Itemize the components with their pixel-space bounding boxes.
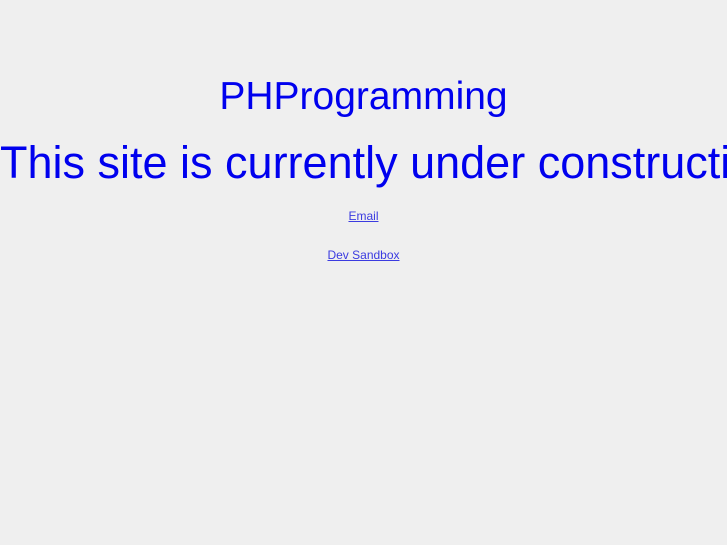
construction-message: This site is currently under constructio… xyxy=(0,140,727,185)
link-list: Email Dev Sandbox xyxy=(0,208,727,263)
list-item: Dev Sandbox xyxy=(0,247,727,263)
page-root: PHProgramming This site is currently und… xyxy=(0,0,727,545)
dev-sandbox-link[interactable]: Dev Sandbox xyxy=(327,249,399,261)
list-item: Email xyxy=(0,208,727,224)
email-link[interactable]: Email xyxy=(348,210,378,222)
page-title: PHProgramming xyxy=(0,77,727,116)
